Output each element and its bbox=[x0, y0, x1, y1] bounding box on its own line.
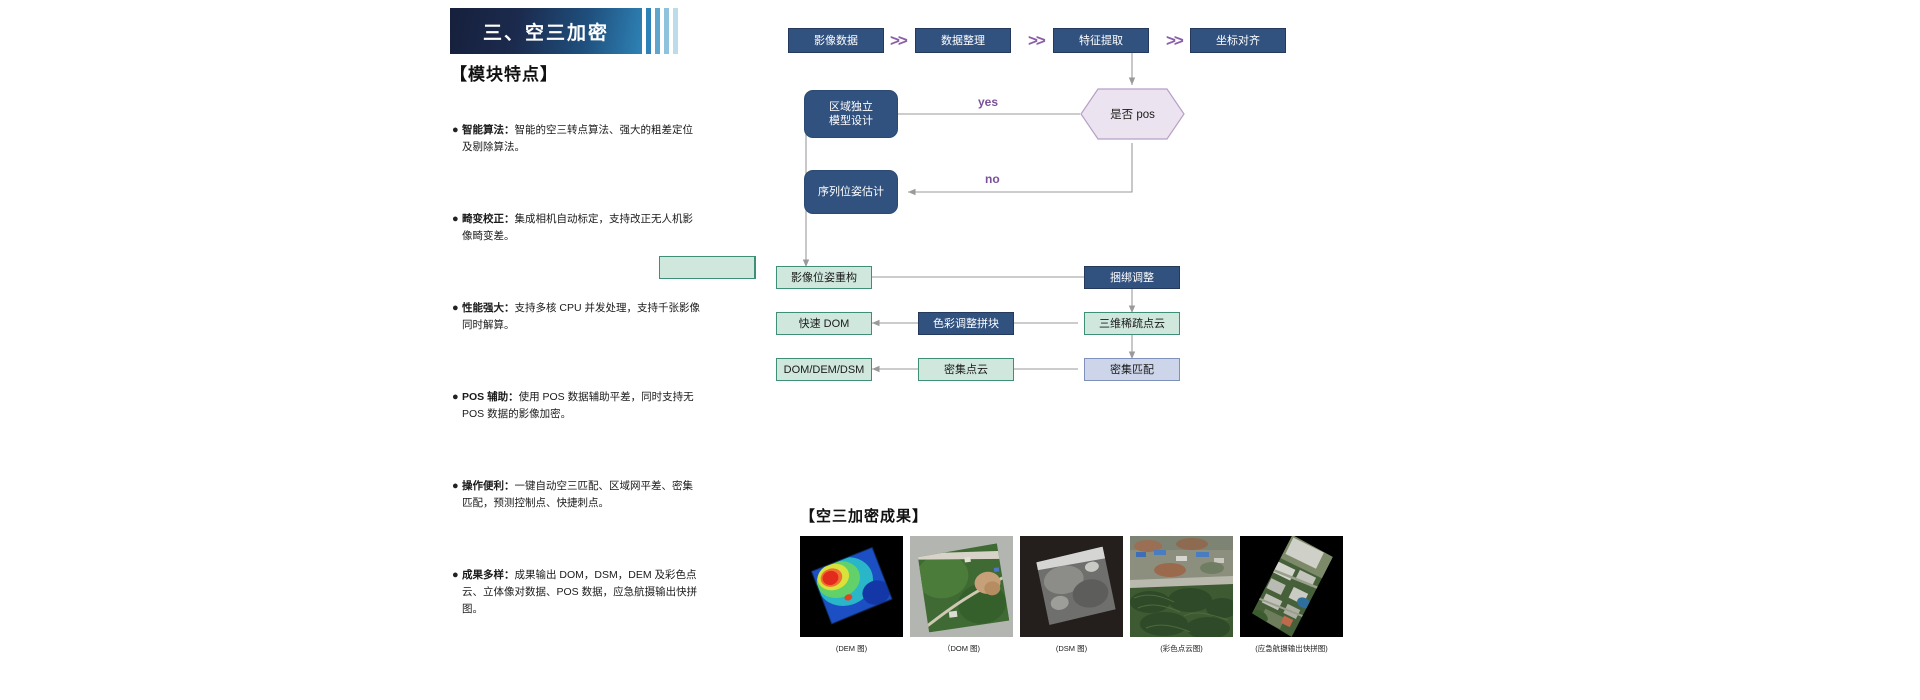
result-image-point-cloud[interactable] bbox=[1130, 536, 1233, 637]
banner-bar-3 bbox=[664, 8, 669, 54]
flow-node-coord-align[interactable]: 坐标对齐 bbox=[1190, 28, 1286, 53]
edge-label-no: no bbox=[985, 172, 1000, 186]
flow-node-spacer bbox=[659, 256, 755, 279]
feature-label: 成果多样： bbox=[462, 569, 515, 581]
list-item: ● 智能算法：智能的空三转点算法、强大的粗差定位及剔除算法。 bbox=[452, 122, 702, 156]
section-title-text: 三、空三加密 bbox=[483, 18, 609, 45]
list-item: (DSM 图) bbox=[1020, 536, 1123, 654]
workflow-connectors bbox=[790, 0, 1490, 480]
dom-preview-icon bbox=[910, 536, 1013, 637]
list-item: ● 成果多样：成果输出 DOM，DSM，DEM 及彩色点云、立体像对数据、POS… bbox=[452, 567, 702, 618]
flow-node-dense-matching[interactable]: 密集匹配 bbox=[1084, 358, 1180, 381]
banner-bar-1 bbox=[646, 8, 651, 54]
features-list: ● 智能算法：智能的空三转点算法、强大的粗差定位及剔除算法。 ● 畸变校正：集成… bbox=[452, 122, 702, 673]
result-image-dom[interactable] bbox=[910, 536, 1013, 637]
bullet-icon: ● bbox=[452, 478, 462, 512]
feature-text: POS 辅助：使用 POS 数据辅助平差，同时支持无 POS 数据的影像加密。 bbox=[462, 389, 702, 423]
feature-text: 性能强大：支持多核 CPU 并发处理，支持千张影像同时解算。 bbox=[462, 300, 702, 334]
feature-label: 智能算法： bbox=[462, 124, 515, 136]
flow-node-region-model[interactable]: 区域独立 模型设计 bbox=[804, 90, 898, 138]
result-caption: (DEM 图) bbox=[800, 643, 903, 654]
workflow-diagram: 影像数据 >> 数据整理 >> 特征提取 >> 坐标对齐 是否 pos yes … bbox=[790, 0, 1490, 480]
section-title-banner: 三、空三加密 bbox=[450, 8, 642, 54]
list-item: (彩色点云图) bbox=[1130, 536, 1233, 654]
chevron-right-icon-2: >> bbox=[1028, 31, 1044, 51]
feature-text: 智能算法：智能的空三转点算法、强大的粗差定位及剔除算法。 bbox=[462, 122, 702, 156]
bullet-icon: ● bbox=[452, 211, 462, 245]
flow-node-image-pose-rebuild[interactable]: 影像位姿重构 bbox=[776, 266, 872, 289]
bullet-icon: ● bbox=[452, 300, 462, 334]
list-item: ● 畸变校正：集成相机自动标定，支持改正无人机影像畸变差。 bbox=[452, 211, 702, 245]
feature-label: 操作便利： bbox=[462, 480, 515, 492]
flow-node-data-organize[interactable]: 数据整理 bbox=[915, 28, 1011, 53]
result-image-dem[interactable] bbox=[800, 536, 903, 637]
list-item: (DEM 图) bbox=[800, 536, 903, 654]
flow-decision-label: 是否 pos bbox=[1080, 88, 1185, 140]
flow-node-dom-dem-dsm[interactable]: DOM/DEM/DSM bbox=[776, 358, 872, 381]
flow-node-color-tile[interactable]: 色彩调整拼块 bbox=[918, 312, 1014, 335]
feature-label: POS 辅助： bbox=[462, 391, 519, 403]
list-item: （DOM 图) bbox=[910, 536, 1013, 654]
feature-label: 性能强大： bbox=[462, 302, 515, 314]
list-item: ● POS 辅助：使用 POS 数据辅助平差，同时支持无 POS 数据的影像加密… bbox=[452, 389, 702, 423]
chevron-right-icon-3: >> bbox=[1166, 31, 1182, 51]
flow-node-image-data[interactable]: 影像数据 bbox=[788, 28, 884, 53]
banner-decoration-bars bbox=[646, 8, 678, 54]
result-caption: (应急航摄输出快拼图) bbox=[1240, 643, 1343, 654]
chevron-right-icon-1: >> bbox=[890, 31, 906, 51]
flow-node-sequence-pose[interactable]: 序列位姿估计 bbox=[804, 170, 898, 214]
flow-decision-has-pos[interactable]: 是否 pos bbox=[1080, 88, 1185, 140]
list-item: ● 操作便利：一键自动空三匹配、区域网平差、密集匹配，预测控制点、快捷刺点。 bbox=[452, 478, 702, 512]
list-item: (应急航摄输出快拼图) bbox=[1240, 536, 1343, 654]
quickmosaic-preview-icon bbox=[1240, 536, 1343, 637]
pointcloud-preview-icon bbox=[1130, 536, 1233, 637]
result-image-dsm[interactable] bbox=[1020, 536, 1123, 637]
banner-bar-4 bbox=[673, 8, 678, 54]
flow-node-bundle-adjustment[interactable]: 捆绑调整 bbox=[1084, 266, 1180, 289]
edge-label-yes: yes bbox=[978, 95, 998, 109]
list-item: ● 性能强大：支持多核 CPU 并发处理，支持千张影像同时解算。 bbox=[452, 300, 702, 334]
flow-node-fast-dom[interactable]: 快速 DOM bbox=[776, 312, 872, 335]
flow-node-sparse-point-cloud[interactable]: 三维稀疏点云 bbox=[1084, 312, 1180, 335]
result-image-quick-mosaic[interactable] bbox=[1240, 536, 1343, 637]
results-heading: 【空三加密成果】 bbox=[800, 505, 928, 526]
results-thumbnail-strip: (DEM 图) bbox=[800, 536, 1343, 654]
flow-node-dense-point-cloud[interactable]: 密集点云 bbox=[918, 358, 1014, 381]
banner-bar-2 bbox=[655, 8, 660, 54]
feature-text: 畸变校正：集成相机自动标定，支持改正无人机影像畸变差。 bbox=[462, 211, 702, 245]
bullet-icon: ● bbox=[452, 567, 462, 618]
bullet-icon: ● bbox=[452, 389, 462, 423]
slide-canvas: 三、空三加密 【模块特点】 ● 智能算法：智能的空三转点算法、强大的粗差定位及剔… bbox=[0, 0, 1920, 700]
feature-text: 操作便利：一键自动空三匹配、区域网平差、密集匹配，预测控制点、快捷刺点。 bbox=[462, 478, 702, 512]
result-caption: （DOM 图) bbox=[910, 643, 1013, 654]
result-caption: (彩色点云图) bbox=[1130, 643, 1233, 654]
feature-text: 成果多样：成果输出 DOM，DSM，DEM 及彩色点云、立体像对数据、POS 数… bbox=[462, 567, 702, 618]
flow-node-feature-extract[interactable]: 特征提取 bbox=[1053, 28, 1149, 53]
dsm-preview-icon bbox=[1020, 536, 1123, 637]
result-caption: (DSM 图) bbox=[1020, 643, 1123, 654]
bullet-icon: ● bbox=[452, 122, 462, 156]
feature-label: 畸变校正： bbox=[462, 213, 515, 225]
features-heading: 【模块特点】 bbox=[450, 60, 558, 85]
dem-preview-icon bbox=[800, 536, 903, 637]
